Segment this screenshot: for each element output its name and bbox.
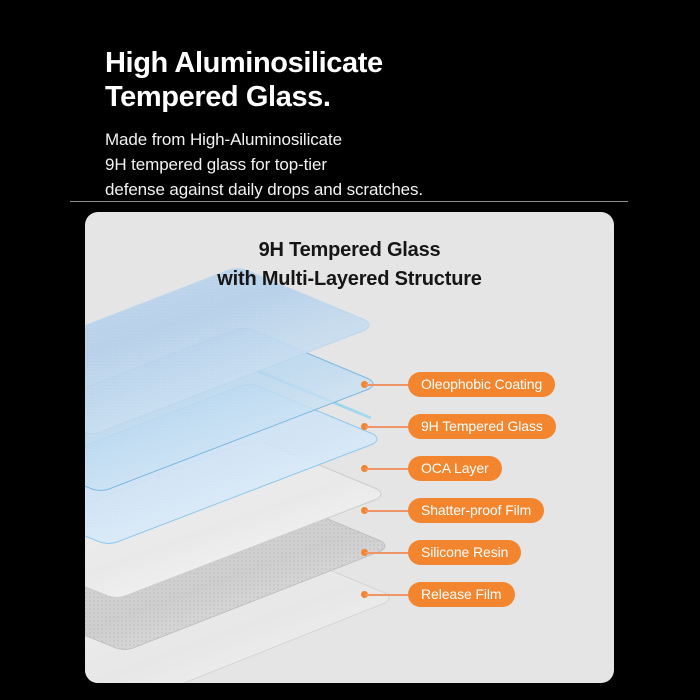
- diagram-card: 9H Tempered Glass with Multi-Layered Str…: [85, 212, 614, 683]
- header-block: High Aluminosilicate Tempered Glass. Mad…: [105, 46, 625, 202]
- callout-group: Oleophobic Coating 9H Tempered Glass OCA…: [85, 212, 614, 683]
- infographic-root: High Aluminosilicate Tempered Glass. Mad…: [0, 0, 700, 700]
- callout-connector-line: [365, 510, 408, 512]
- callout-label-silicone-resin: Silicone Resin: [408, 540, 521, 565]
- callout-label-9h-tempered-glass: 9H Tempered Glass: [408, 414, 556, 439]
- callout-connector-line: [365, 426, 408, 428]
- callout-label-oleophobic-coating: Oleophobic Coating: [408, 372, 555, 397]
- callout-label-shatter-proof-film: Shatter-proof Film: [408, 498, 544, 523]
- callout-label-release-film: Release Film: [408, 582, 515, 607]
- callout-connector-line: [365, 594, 408, 596]
- callout-connector-line: [365, 384, 408, 386]
- callout-connector-line: [365, 552, 408, 554]
- page-subtitle: Made from High-Aluminosilicate 9H temper…: [105, 127, 625, 202]
- header-divider: [70, 201, 628, 202]
- page-title: High Aluminosilicate Tempered Glass.: [105, 46, 625, 114]
- callout-label-oca-layer: OCA Layer: [408, 456, 502, 481]
- callout-connector-line: [365, 468, 408, 470]
